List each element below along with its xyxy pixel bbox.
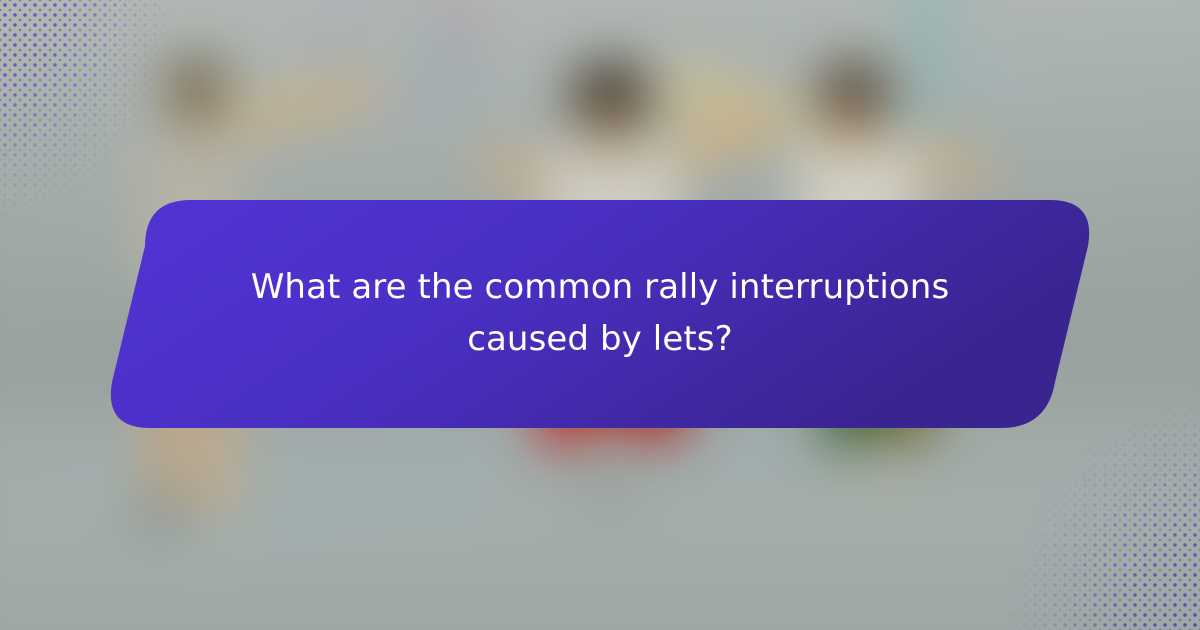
player-center-legs — [580, 420, 636, 520]
player-left-shoe — [136, 496, 192, 526]
quote-card: What are the common rally interruptions … — [100, 200, 1100, 428]
player-right-legs — [840, 440, 924, 536]
quote-text-container: What are the common rally interruptions … — [100, 200, 1100, 428]
quote-question-text: What are the common rally interruptions … — [250, 262, 950, 365]
quote-card-canvas: What are the common rally interruptions … — [0, 0, 1200, 630]
